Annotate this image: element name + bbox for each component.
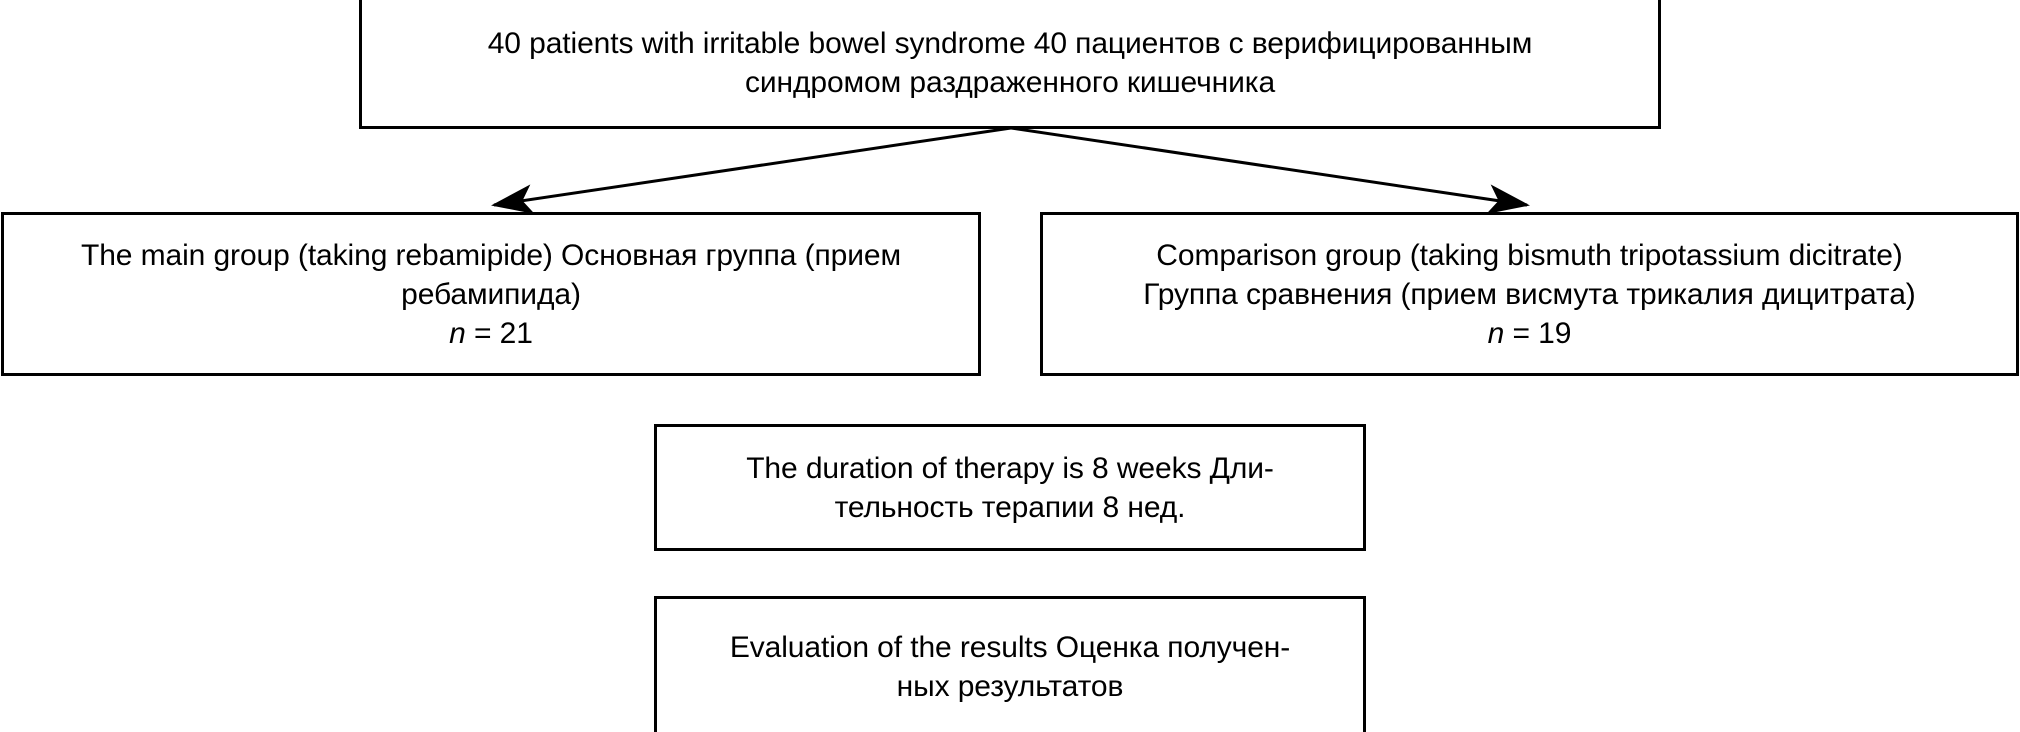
node-main-group: The main group (taking rebamipide) Основ… (1, 212, 981, 376)
node-main-group-sample-size: n = 21 (4, 314, 978, 353)
node-comparison-group-sample-size: n = 19 (1043, 314, 2016, 353)
node-patient-cohort-line-2: синдромом раздраженного кишечника (362, 63, 1658, 102)
node-main-group-line-2: ребамипида) (4, 275, 978, 314)
node-main-group-n-value: 21 (500, 317, 533, 350)
node-therapy-duration-line-2: тельность терапии 8 нед. (657, 488, 1363, 527)
node-main-group-n-equals: = (466, 317, 500, 350)
node-results-evaluation-line-2: ных результатов (657, 667, 1363, 706)
node-patient-cohort-line-1: 40 patients with irritable bowel syndrom… (362, 24, 1658, 63)
arrow-to-main-group (494, 128, 1011, 205)
node-main-group-n-symbol: n (449, 317, 466, 350)
node-therapy-duration-line-1: The duration of therapy is 8 weeks Дли- (657, 449, 1363, 488)
node-therapy-duration: The duration of therapy is 8 weeks Дли- … (654, 424, 1366, 551)
node-comparison-group: Comparison group (taking bismuth tripota… (1040, 212, 2019, 376)
node-comparison-group-line-2: Группа сравнения (прием висмута трикалия… (1043, 275, 2016, 314)
node-comparison-group-n-symbol: n (1488, 317, 1505, 350)
node-results-evaluation-line-1: Evaluation of the results Оценка получен… (657, 628, 1363, 667)
node-comparison-group-n-value: 19 (1538, 317, 1571, 350)
node-patient-cohort: 40 patients with irritable bowel syndrom… (359, 0, 1661, 129)
arrow-to-comparison-group (1011, 128, 1527, 205)
node-main-group-line-1: The main group (taking rebamipide) Основ… (4, 236, 978, 275)
node-comparison-group-line-1: Comparison group (taking bismuth tripota… (1043, 236, 2016, 275)
node-comparison-group-n-equals: = (1504, 317, 1538, 350)
node-results-evaluation: Evaluation of the results Оценка получен… (654, 596, 1366, 732)
flowchart-canvas: 40 patients with irritable bowel syndrom… (0, 0, 2020, 732)
